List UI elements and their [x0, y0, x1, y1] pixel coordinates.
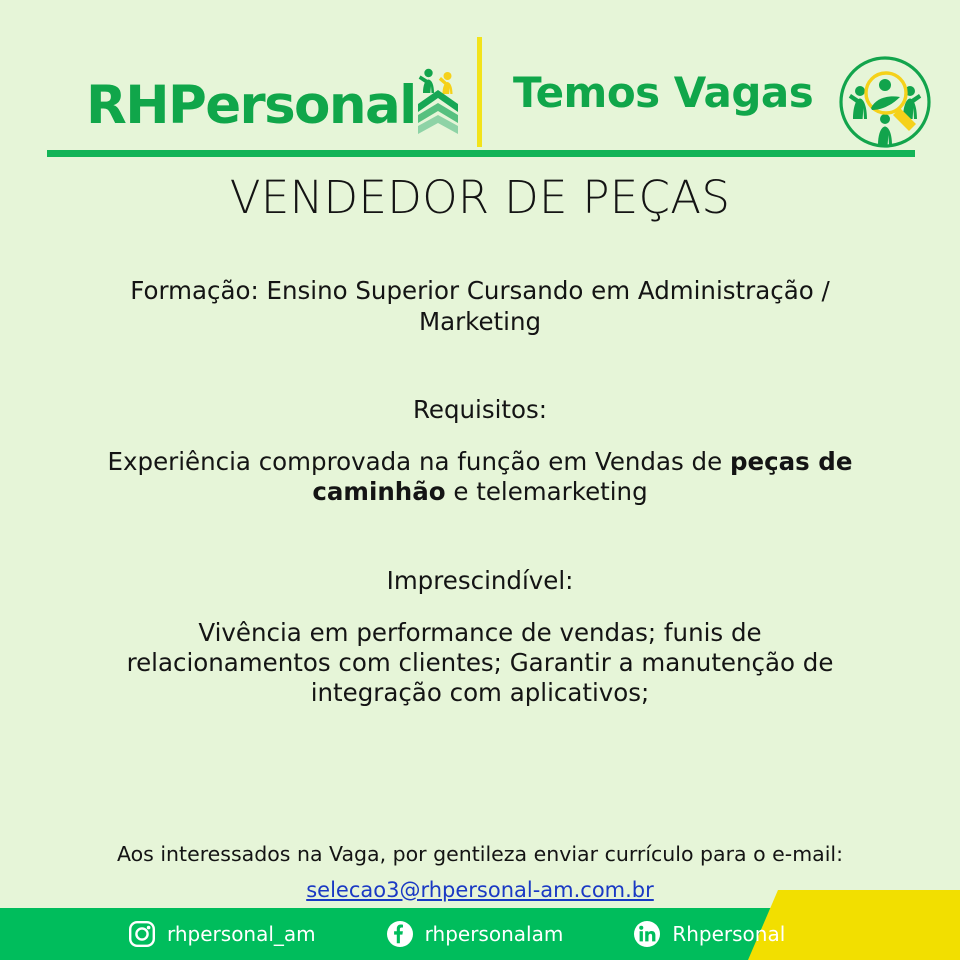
people-magnifier-badge-icon [836, 53, 934, 151]
education-line: Formação: Ensino Superior Cursando em Ad… [100, 275, 860, 338]
social-handle-instagram: rhpersonal_am [167, 924, 316, 944]
requirements-text-part1: Experiência comprovada na função em Vend… [108, 447, 730, 476]
essential-heading: Imprescindível: [100, 565, 860, 596]
brand-name: RHPersonal [86, 79, 416, 132]
poster-header: RHPersonal Temos Vag [0, 0, 960, 168]
job-posting-poster: RHPersonal Temos Vag [0, 0, 960, 960]
contact-instruction: Aos interessados na Vaga, por gentileza … [0, 840, 960, 870]
social-item-linkedin[interactable]: Rhpersonal [633, 920, 785, 948]
brand-logo: RHPersonal [86, 56, 462, 132]
linkedin-icon [633, 920, 661, 948]
header-tagline: Temos Vagas [513, 72, 813, 114]
contact-email-link[interactable]: selecao3@rhpersonal-am.com.br [306, 875, 654, 905]
facebook-icon [386, 920, 414, 948]
social-handle-linkedin: Rhpersonal [672, 924, 785, 944]
header-rule [47, 150, 915, 157]
page-title: VENDEDOR DE PEÇAS [0, 172, 960, 224]
job-details: Formação: Ensino Superior Cursando em Ad… [100, 275, 860, 708]
spacer [100, 507, 860, 565]
spacer [100, 596, 860, 618]
requirements-text-part2: e telemarketing [446, 477, 648, 506]
social-item-instagram[interactable]: rhpersonal_am [128, 920, 316, 948]
spacer [100, 425, 860, 447]
header-vertical-divider [477, 37, 482, 147]
spacer [100, 338, 860, 394]
chevron-tree-people-icon [414, 63, 462, 135]
social-handle-facebook: rhpersonalam [425, 924, 564, 944]
requirements-heading: Requisitos: [100, 394, 860, 425]
requirements-text: Experiência comprovada na função em Vend… [100, 447, 860, 507]
social-item-facebook[interactable]: rhpersonalam [386, 920, 564, 948]
instagram-icon [128, 920, 156, 948]
essential-text: Vivência em performance de vendas; funis… [100, 618, 860, 708]
social-links: rhpersonal_am rhpersonalam Rhpersona [0, 908, 960, 960]
